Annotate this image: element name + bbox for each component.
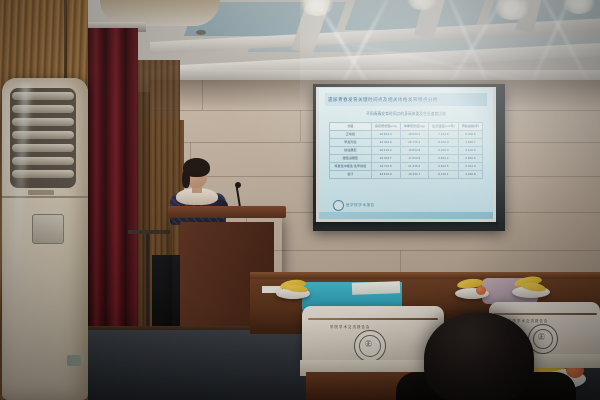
chair-emblem-left-icon: ㊣ bbox=[354, 330, 386, 362]
air-conditioner-display bbox=[67, 355, 81, 366]
chair-emblem-glyph: ㊣ bbox=[538, 334, 545, 341]
chair-arc-text-left: 学院学术交流报告会 bbox=[330, 324, 370, 329]
document-stack bbox=[352, 281, 400, 295]
chair-emblem-glyph: ㊣ bbox=[365, 341, 372, 348]
screen-drop-shadow bbox=[313, 222, 499, 228]
presenter-hair-side bbox=[182, 170, 190, 188]
microphone-head-icon bbox=[235, 182, 241, 188]
projected-slide: 遗尿青春发育关键时间点及相关体格发育特点分析 不同青春发育时间点的身高体重及生长… bbox=[319, 88, 493, 219]
audience-member-head bbox=[424, 312, 534, 400]
lectern-top bbox=[168, 206, 286, 218]
conference-hall-photo: 遗尿青春发育关键时间点及相关体格发育特点分析 不同青春发育时间点的身高体重及生长… bbox=[0, 0, 600, 400]
air-conditioner bbox=[2, 78, 88, 400]
equipment-stand-top bbox=[128, 230, 170, 234]
ceiling-speaker-grille bbox=[196, 30, 206, 35]
air-conditioner-brand-logo bbox=[28, 190, 54, 195]
conference-table-edge bbox=[250, 272, 600, 279]
orange-fruit bbox=[476, 286, 486, 295]
slide-projector-glow bbox=[319, 88, 493, 219]
air-conditioner-control-panel[interactable] bbox=[32, 214, 64, 244]
